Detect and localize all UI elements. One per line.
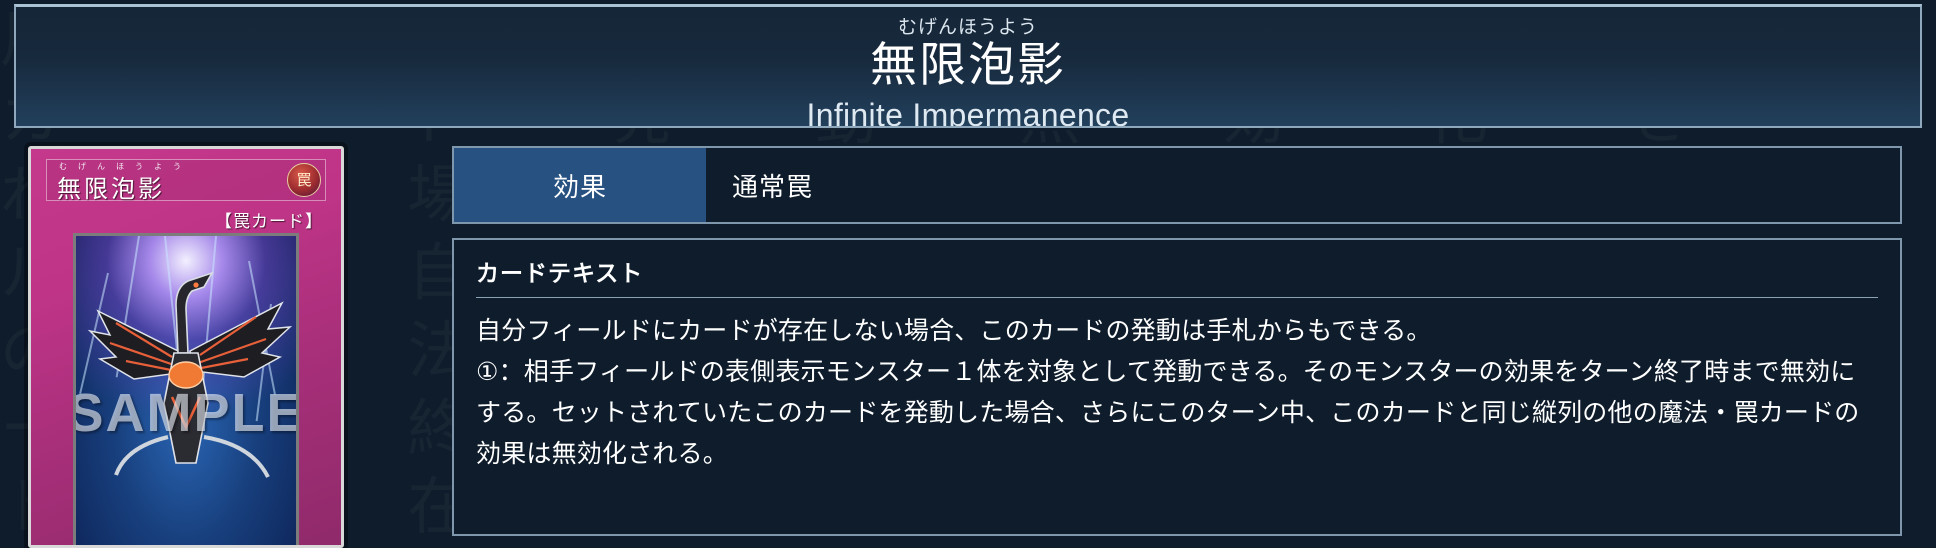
card-details-column: 効果 通常罠 カードテキスト 自分フィールドにカードが存在しない場合、このカード… xyxy=(452,146,1902,536)
title-furigana: むげんほうよう xyxy=(16,12,1920,39)
card-detail-page: 用 モ ン ス タ ー 効 果 罠 カ ー ド 発 動 無 効 化 さ れ る … xyxy=(0,0,1936,548)
trap-attribute-icon: 罠 xyxy=(287,163,321,197)
card-text-body: 自分フィールドにカードが存在しない場合、このカードの発動は手札からもできる。 ①… xyxy=(476,310,1878,474)
card-subtype-value: 通常罠 xyxy=(706,148,1900,222)
page-title: 無限泡影 xyxy=(16,38,1920,94)
tab-effect[interactable]: 効果 xyxy=(454,148,706,222)
dragon-illustration xyxy=(76,257,296,487)
card-type-label: 【罠カード】 xyxy=(215,207,323,232)
page-subtitle-english: Infinite Impermanence xyxy=(16,96,1920,128)
card-illustration: SAMPLE xyxy=(73,233,299,548)
card-title-header: むげんほうよう 無限泡影 Infinite Impermanence xyxy=(14,4,1922,128)
card-artwork-panel[interactable]: むげんほうよう 無限泡影 罠 【罠カード】 xyxy=(28,146,344,548)
card-text-box: カードテキスト 自分フィールドにカードが存在しない場合、このカードの発動は手札か… xyxy=(452,238,1902,536)
card-text-heading: カードテキスト xyxy=(476,254,1878,297)
card-name-text: 無限泡影 xyxy=(57,169,165,204)
card-info-strip: 効果 通常罠 xyxy=(452,146,1902,224)
divider xyxy=(476,297,1878,298)
yugioh-trap-card[interactable]: むげんほうよう 無限泡影 罠 【罠カード】 xyxy=(28,146,344,548)
card-name-bar: むげんほうよう 無限泡影 罠 xyxy=(46,159,326,201)
